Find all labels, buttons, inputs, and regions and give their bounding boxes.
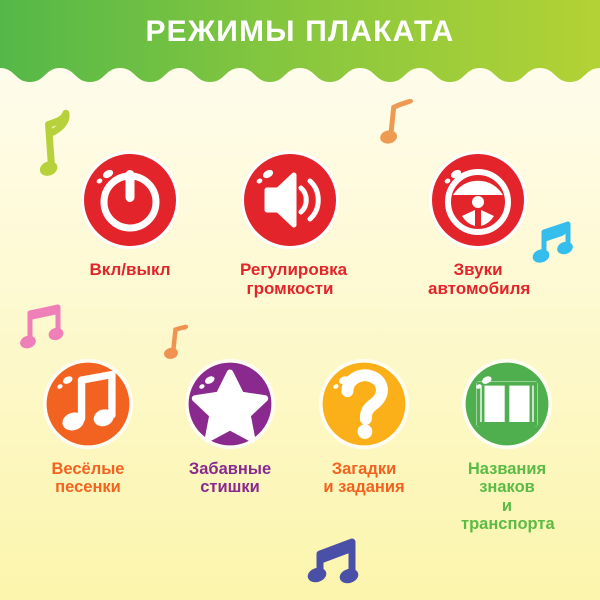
steering-wheel-icon	[428, 150, 528, 250]
speaker-volume-icon	[240, 150, 340, 250]
mode-label-car-sounds: Звуки автомобиля	[428, 260, 528, 298]
power-icon	[80, 150, 180, 250]
star-icon	[184, 358, 276, 450]
mode-tile-rhymes[interactable]: Забавные стишки	[184, 358, 276, 497]
mode-tile-names[interactable]: Названия знаков и транспорта	[461, 358, 553, 534]
mode-label-rhymes: Забавные стишки	[184, 460, 276, 497]
mode-label-names: Названия знаков и транспорта	[461, 460, 553, 534]
car-sounds-badge[interactable]	[428, 150, 528, 250]
mode-tile-riddles[interactable]: Загадки и задания	[318, 358, 410, 497]
mode-label-riddles: Загадки и задания	[318, 460, 410, 497]
question-mark-icon	[318, 358, 410, 450]
volume-badge[interactable]	[240, 150, 340, 250]
header-banner: РЕЖИМЫ ПЛАКАТА	[0, 0, 600, 96]
rhymes-badge[interactable]	[184, 358, 276, 450]
mode-tile-car-sounds[interactable]: Звуки автомобиля	[428, 150, 528, 298]
mode-label-songs: Весёлые песенки	[42, 460, 134, 497]
music-notes-icon	[42, 358, 134, 450]
mode-label-volume: Регулировка громкости	[240, 260, 340, 298]
poster-canvas: РЕЖИМЫ ПЛАКАТА Вкл/выкл	[0, 0, 600, 600]
names-badge[interactable]	[461, 358, 553, 450]
music-note-pink	[20, 303, 66, 355]
mode-tile-power[interactable]: Вкл/выкл	[80, 150, 180, 279]
mode-tile-songs[interactable]: Весёлые песенки	[42, 358, 134, 497]
riddles-badge[interactable]	[318, 358, 410, 450]
power-badge[interactable]	[80, 150, 180, 250]
music-note-green	[34, 109, 79, 182]
mode-tile-volume[interactable]: Регулировка громкости	[240, 150, 340, 298]
page-title: РЕЖИМЫ ПЛАКАТА	[0, 12, 600, 52]
music-note-blue	[532, 220, 576, 270]
mode-label-power: Вкл/выкл	[80, 260, 180, 279]
music-note-orange	[377, 96, 420, 152]
open-book-icon	[461, 358, 553, 450]
music-note-orange-small	[162, 323, 194, 366]
music-note-indigo	[306, 536, 368, 596]
songs-badge[interactable]	[42, 358, 134, 450]
